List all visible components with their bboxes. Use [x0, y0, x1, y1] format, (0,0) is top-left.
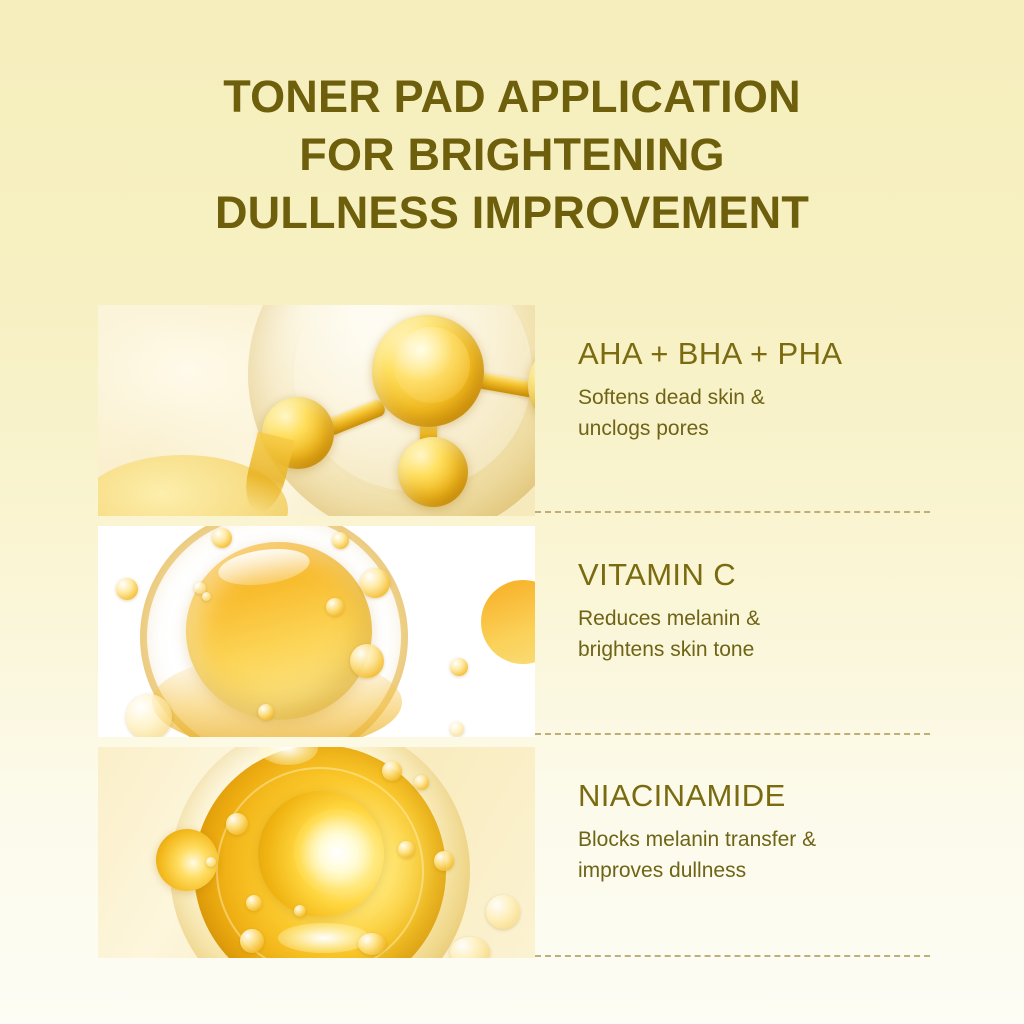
bubble-12	[206, 857, 216, 867]
ingredient-name: NIACINAMIDE	[578, 777, 978, 815]
ingredient-name: VITAMIN C	[578, 556, 978, 594]
bubble-7	[450, 658, 468, 676]
bubble-8	[258, 704, 274, 720]
sphere-glow-highlight	[294, 809, 380, 895]
bubble-4	[360, 568, 390, 598]
bubble-5	[326, 598, 344, 616]
ingredient-name: AHA + BHA + PHA	[578, 335, 978, 373]
ingredient-text-niacinamide: NIACINAMIDE Blocks melanin transfer & im…	[578, 777, 978, 886]
bubble-11	[450, 937, 490, 958]
divider-3	[535, 955, 930, 957]
bubble-2	[212, 528, 232, 548]
title-line-1: TONER PAD APPLICATION	[0, 68, 1024, 126]
bubble-5	[434, 851, 454, 871]
molecule-sphere-bottom	[398, 437, 468, 507]
title-line-2: FOR BRIGHTENING	[0, 126, 1024, 184]
page-title: TONER PAD APPLICATION FOR BRIGHTENING DU…	[0, 68, 1024, 242]
bubble-12	[450, 722, 464, 736]
ingredient-description-line-2: improves dullness	[578, 855, 978, 886]
ingredient-description-line-1: Blocks melanin transfer &	[578, 824, 978, 855]
ingredient-image-aha-bha-pha	[98, 305, 535, 516]
bubble-1	[226, 813, 248, 835]
bubble-10	[202, 592, 211, 601]
ingredient-list: AHA + BHA + PHA Softens dead skin & uncl…	[0, 305, 1024, 968]
bubble-9	[294, 905, 306, 917]
bubble-1	[116, 578, 138, 600]
bubble-6	[246, 895, 262, 911]
ingredient-row-niacinamide: NIACINAMIDE Blocks melanin transfer & im…	[0, 747, 1024, 968]
bubble-3	[332, 532, 349, 549]
ingredient-description-line-2: brightens skin tone	[578, 634, 978, 665]
ingredient-image-niacinamide	[98, 747, 535, 958]
ingredient-image-vitamin-c	[98, 526, 535, 737]
ingredient-text-aha-bha-pha: AHA + BHA + PHA Softens dead skin & uncl…	[578, 335, 978, 444]
ingredient-row-aha-bha-pha: AHA + BHA + PHA Softens dead skin & uncl…	[0, 305, 1024, 526]
bubble-10	[486, 895, 520, 929]
bubble-3	[414, 775, 429, 790]
sphere-bottom-glow	[278, 923, 370, 953]
bubble-6	[350, 644, 384, 678]
bubble-4	[398, 841, 415, 858]
bubble-8	[358, 933, 386, 955]
ingredient-description-line-2: unclogs pores	[578, 413, 978, 444]
title-line-3: DULLNESS IMPROVEMENT	[0, 184, 1024, 242]
divider-1	[535, 511, 930, 513]
ingredient-text-vitamin-c: VITAMIN C Reduces melanin & brightens sk…	[578, 556, 978, 665]
bubble-7	[240, 929, 264, 953]
molecule-sphere-main-highlight	[394, 327, 470, 403]
divider-2	[535, 733, 930, 735]
ingredient-description-line-1: Reduces melanin &	[578, 603, 978, 634]
bubble-11	[126, 694, 172, 737]
bubble-2	[382, 761, 402, 781]
ingredient-row-vitamin-c: VITAMIN C Reduces melanin & brightens sk…	[0, 526, 1024, 747]
ingredient-description-line-1: Softens dead skin &	[578, 382, 978, 413]
